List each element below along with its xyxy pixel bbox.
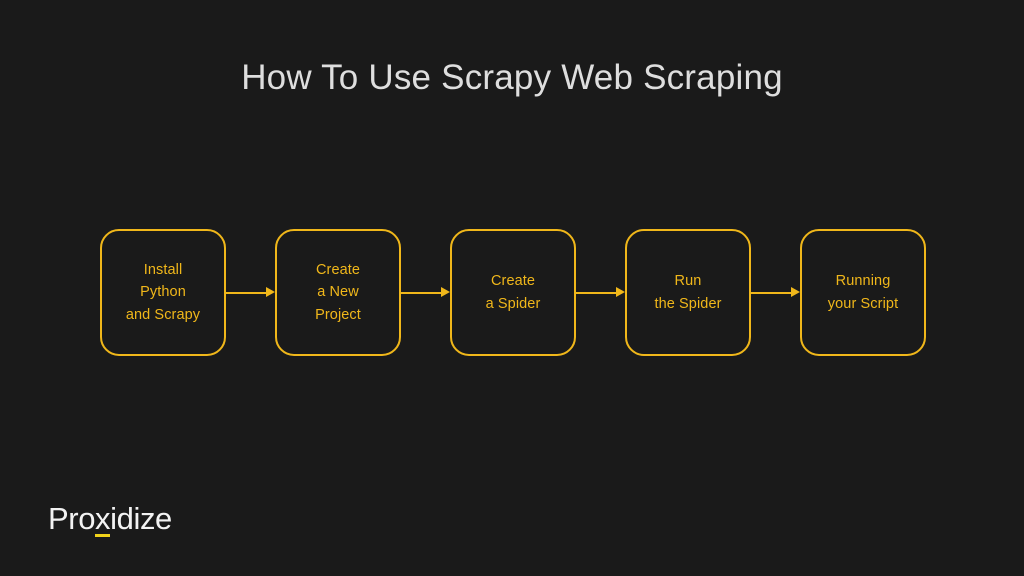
arrow-shaft bbox=[576, 292, 618, 294]
logo-wordmark: Proxidize bbox=[48, 502, 172, 536]
arrow-head bbox=[441, 287, 450, 297]
arrow-shaft bbox=[401, 292, 443, 294]
flow-step-5-label: Running your Script bbox=[822, 270, 904, 315]
flow-step-5[interactable]: Running your Script bbox=[800, 229, 926, 356]
slide-canvas: How To Use Scrapy Web Scraping Install P… bbox=[0, 0, 1024, 576]
arrow-right-icon-3 bbox=[576, 287, 625, 299]
flow-step-3[interactable]: Create a Spider bbox=[450, 229, 576, 356]
arrow-shaft bbox=[226, 292, 268, 294]
flow-step-2[interactable]: Create a New Project bbox=[275, 229, 401, 356]
flow-step-1[interactable]: Install Python and Scrapy bbox=[100, 229, 226, 356]
arrow-head bbox=[616, 287, 625, 297]
flow-step-4-label: Run the Spider bbox=[648, 270, 727, 315]
arrow-head bbox=[791, 287, 800, 297]
arrow-right-icon-4 bbox=[751, 287, 800, 299]
flowchart: Install Python and Scrapy Create a New P… bbox=[100, 229, 926, 356]
arrow-right-icon-1 bbox=[226, 287, 275, 299]
arrow-shaft bbox=[751, 292, 793, 294]
arrow-head bbox=[266, 287, 275, 297]
flow-step-4[interactable]: Run the Spider bbox=[625, 229, 751, 356]
flow-step-2-label: Create a New Project bbox=[309, 259, 367, 327]
flow-step-3-label: Create a Spider bbox=[480, 270, 547, 315]
logo-accent-underline bbox=[95, 534, 110, 537]
page-title: How To Use Scrapy Web Scraping bbox=[0, 57, 1024, 99]
flow-step-1-label: Install Python and Scrapy bbox=[120, 259, 206, 327]
proxidize-logo: Proxidize bbox=[48, 496, 172, 536]
arrow-right-icon-2 bbox=[401, 287, 450, 299]
